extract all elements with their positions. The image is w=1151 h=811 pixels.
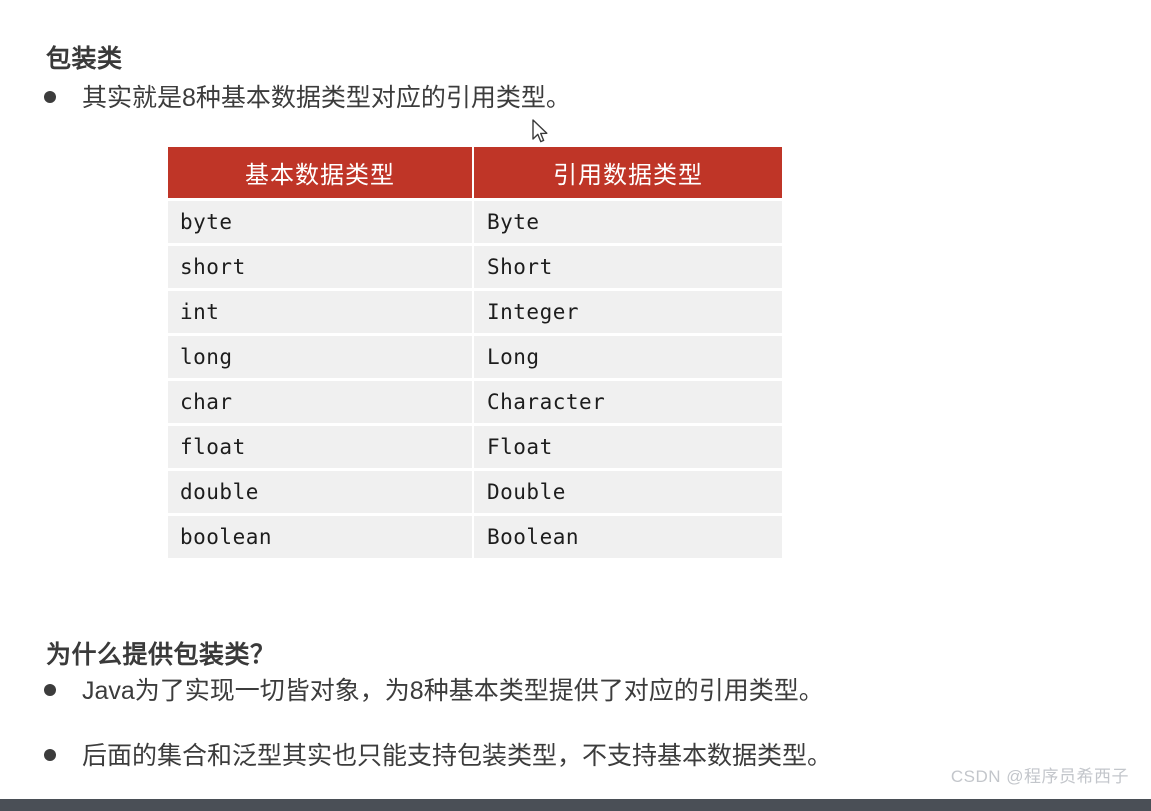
table-header-row: 基本数据类型 引用数据类型 [168,147,782,198]
mouse-pointer-icon [531,119,549,145]
list-item-label: Java为了实现一切皆对象，为8种基本类型提供了对应的引用类型。 [82,676,824,707]
table-row: float Float [168,426,782,468]
cell-primitive: char [168,381,472,423]
table-row: double Double [168,471,782,513]
slide-page: 包装类 其实就是8种基本数据类型对应的引用类型。 基本数据类型 引用数据类型 b… [0,0,1151,811]
cell-primitive: double [168,471,472,513]
list-item-label: 其实就是8种基本数据类型对应的引用类型。 [82,83,571,114]
table-header: 基本数据类型 引用数据类型 [168,147,782,198]
cell-wrapper: Byte [474,201,782,243]
table-row: boolean Boolean [168,516,782,558]
cell-primitive: int [168,291,472,333]
cell-wrapper: Short [474,246,782,288]
cell-primitive: long [168,336,472,378]
cell-primitive: float [168,426,472,468]
bullet-dot-icon [44,91,56,103]
table-row: char Character [168,381,782,423]
cell-primitive: boolean [168,516,472,558]
cell-wrapper: Long [474,336,782,378]
table-body: byte Byte short Short int Integer long L… [168,201,782,558]
list-item: 其实就是8种基本数据类型对应的引用类型。 [44,83,571,114]
list-item-label: 后面的集合和泛型其实也只能支持包装类型，不支持基本数据类型。 [82,741,832,772]
column-header-wrapper: 引用数据类型 [474,147,782,198]
table-row: long Long [168,336,782,378]
table-row: short Short [168,246,782,288]
bottom-bar [0,799,1151,811]
table-row: int Integer [168,291,782,333]
watermark-text: CSDN @程序员希西子 [951,762,1129,787]
section-title-why: 为什么提供包装类？ [46,635,276,671]
bullet-dot-icon [44,749,56,761]
cell-wrapper: Integer [474,291,782,333]
cell-primitive: short [168,246,472,288]
page-title: 包装类 [46,39,123,75]
list-item: 后面的集合和泛型其实也只能支持包装类型，不支持基本数据类型。 [44,741,832,772]
cell-wrapper: Float [474,426,782,468]
cell-wrapper: Character [474,381,782,423]
bullet-dot-icon [44,684,56,696]
list-item: Java为了实现一切皆对象，为8种基本类型提供了对应的引用类型。 [44,676,824,707]
column-header-primitive: 基本数据类型 [168,147,472,198]
data-type-table: 基本数据类型 引用数据类型 byte Byte short Short int … [166,144,784,561]
cell-primitive: byte [168,201,472,243]
table-row: byte Byte [168,201,782,243]
cell-wrapper: Boolean [474,516,782,558]
cell-wrapper: Double [474,471,782,513]
